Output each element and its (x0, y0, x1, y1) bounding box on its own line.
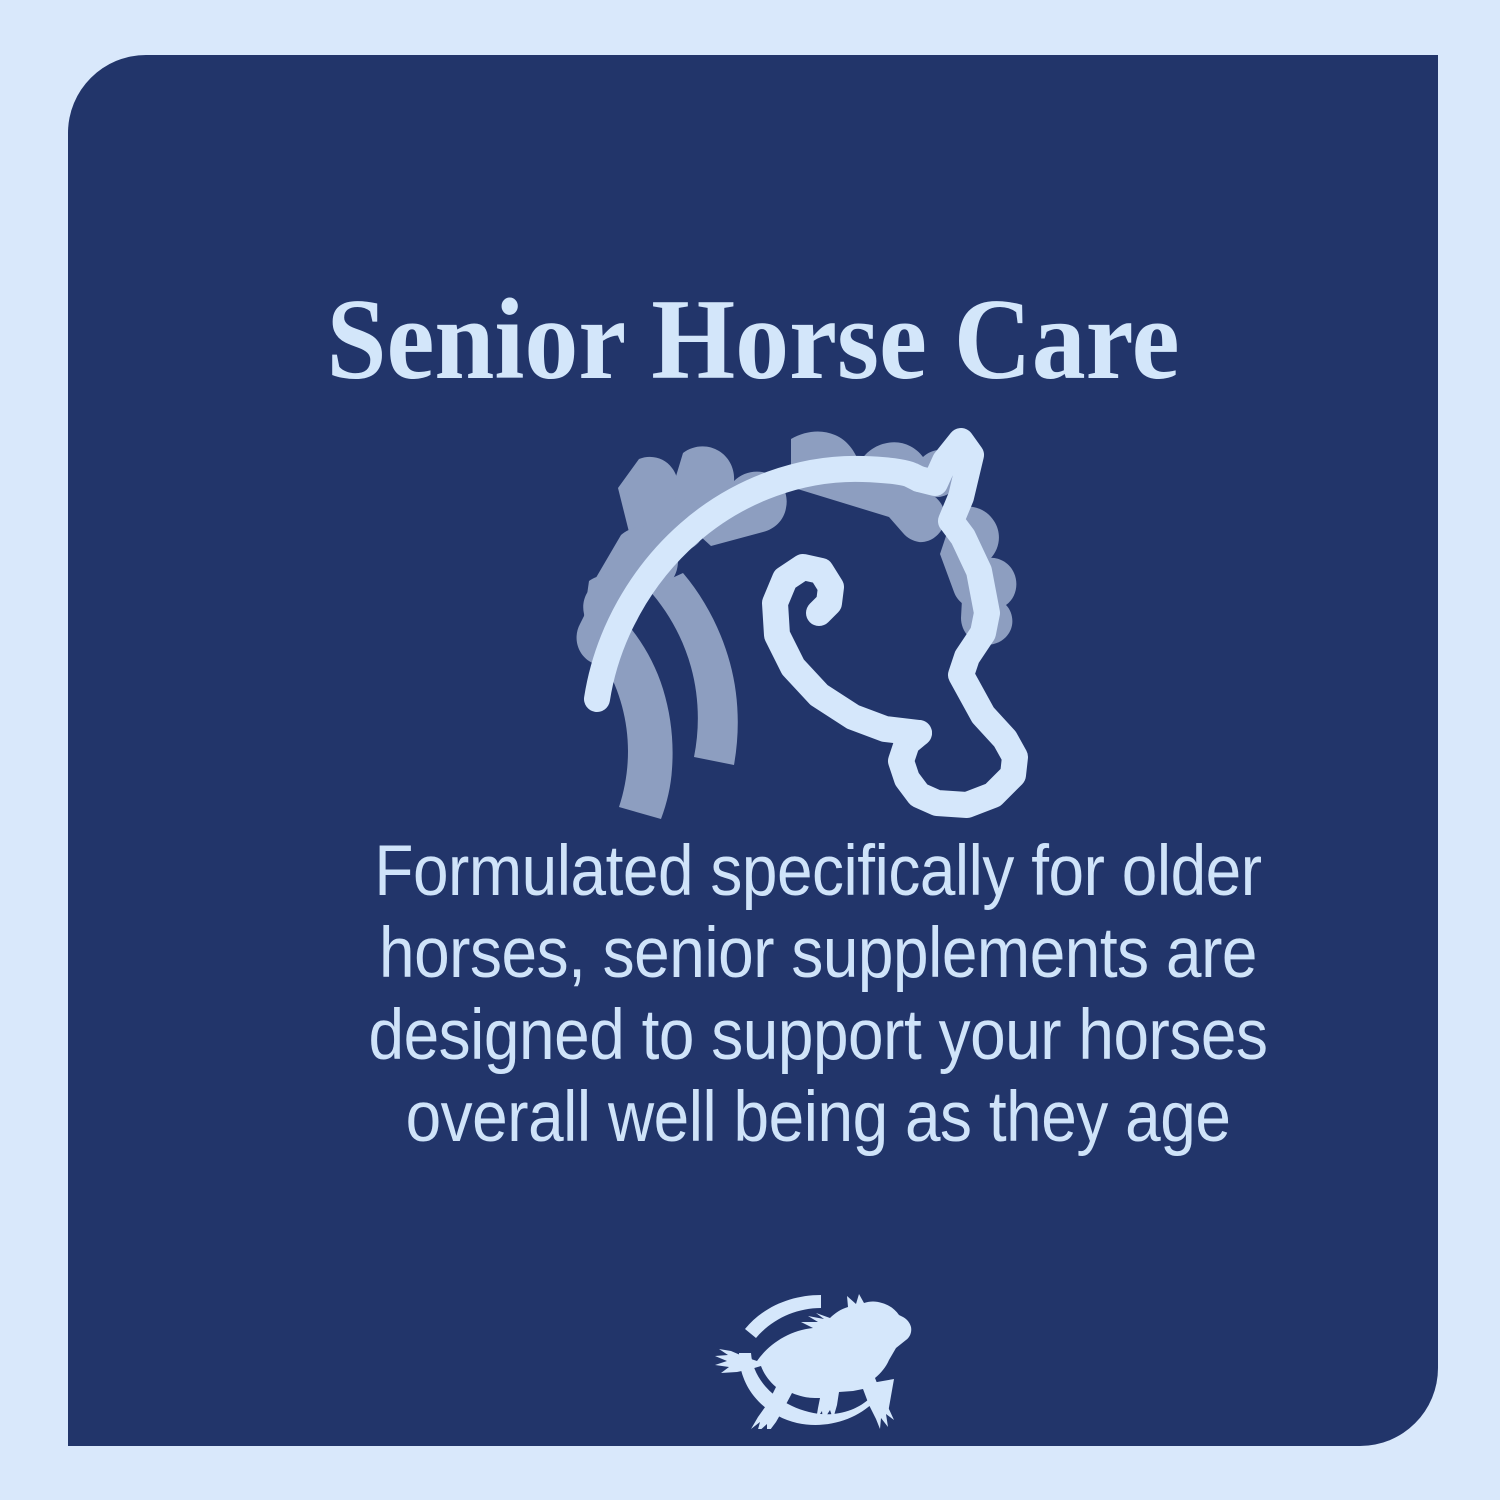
card-canvas: Senior Horse Care (0, 0, 1500, 1500)
navy-card-panel: Senior Horse Care (68, 55, 1438, 1446)
body-paragraph: Formulated specifically for older horses… (269, 831, 1367, 1159)
page-title: Senior Horse Care (116, 281, 1390, 399)
body-text: Formulated specifically for older horses… (369, 832, 1268, 1157)
brand-logo (713, 1287, 928, 1429)
horse-head-emblem (563, 423, 1053, 831)
